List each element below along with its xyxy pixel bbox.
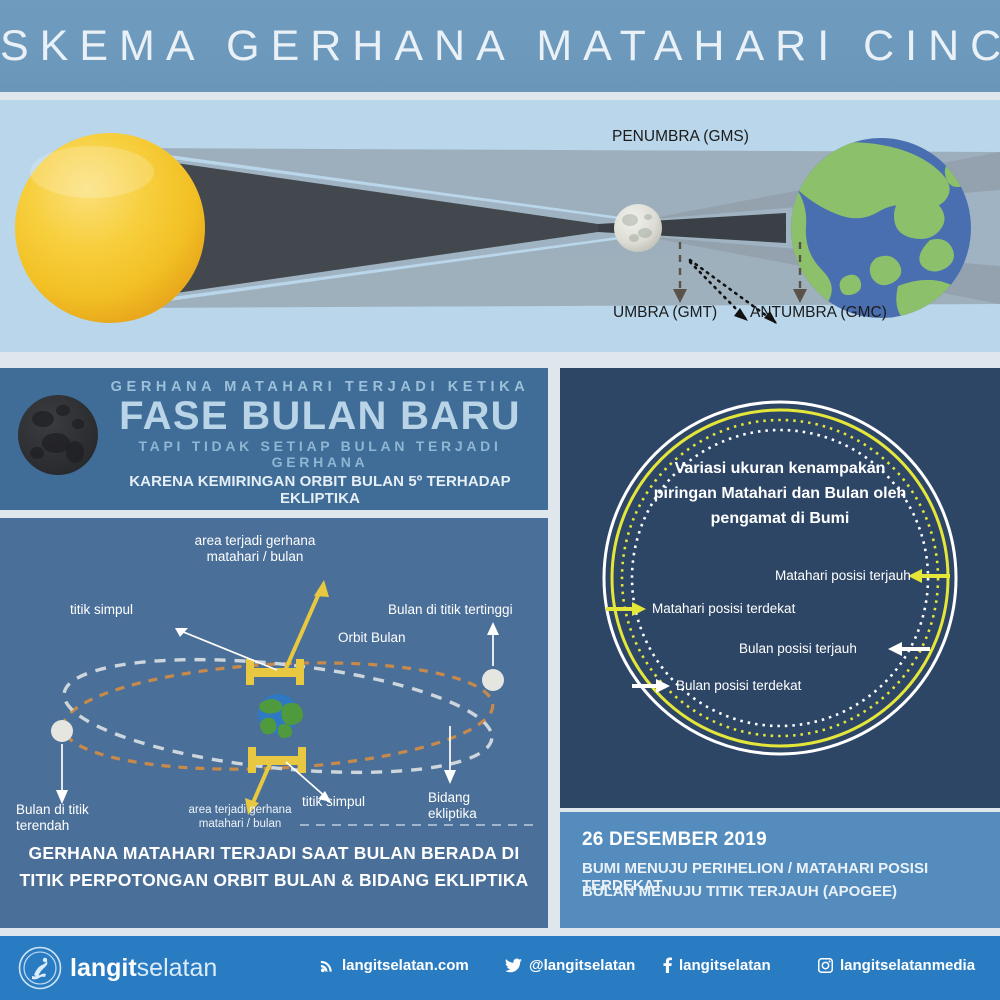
orbit-caption-line1: GERHANA MATAHARI TERJADI SAAT BULAN BERA… bbox=[0, 840, 548, 867]
infographic-page: SKEMA GERHANA MATAHARI CINCIN bbox=[0, 0, 1000, 1000]
new-moon-icon bbox=[18, 395, 98, 475]
label-sun-near: Matahari posisi terdekat bbox=[652, 601, 795, 616]
footer-band: langitselatan langitselatan.com @langits… bbox=[0, 936, 1000, 1000]
label-node-bottom: titik simpul bbox=[302, 794, 365, 810]
label-eclipse-area-bottom-line2: matahari / bulan bbox=[175, 817, 305, 831]
social-facebook-label: langitselatan bbox=[679, 957, 771, 974]
label-moon-lowest-line2: terendah bbox=[16, 818, 89, 834]
label-moon-near: Bulan posisi terdekat bbox=[676, 678, 801, 693]
new-moon-line-4: KARENA KEMIRINGAN ORBIT BULAN 5º TERHADA… bbox=[100, 473, 540, 507]
new-moon-text-block: GERHANA MATAHARI TERJADI KETIKA FASE BUL… bbox=[100, 374, 540, 507]
social-twitter-label: @langitselatan bbox=[529, 957, 635, 974]
rss-icon bbox=[320, 958, 335, 973]
label-umbra: UMBRA (GMT) bbox=[613, 304, 717, 322]
header-band: SKEMA GERHANA MATAHARI CINCIN bbox=[0, 0, 1000, 92]
label-eclipse-area-top: area terjadi gerhana matahari / bulan bbox=[170, 533, 340, 565]
moon-lowest-icon bbox=[51, 720, 73, 742]
earth-small-icon bbox=[258, 694, 303, 738]
facebook-icon bbox=[663, 957, 672, 973]
label-penumbra: PENUMBRA (GMS) bbox=[612, 128, 749, 146]
brand-bold: langit bbox=[70, 954, 137, 982]
eclipse-geometry-diagram: PENUMBRA (GMS) UMBRA (GMT) ANTUMBRA (GMC… bbox=[0, 100, 1000, 352]
new-moon-line-3: TAPI TIDAK SETIAP BULAN TERJADI GERHANA bbox=[100, 438, 540, 470]
social-instagram[interactable]: langitselatanmedia bbox=[818, 957, 975, 974]
brand-light: selatan bbox=[137, 954, 218, 982]
label-eclipse-area-top-line1: area terjadi gerhana bbox=[170, 533, 340, 549]
label-ecliptic-plane-line2: ekliptika bbox=[428, 806, 477, 822]
social-website[interactable]: langitselatan.com bbox=[320, 957, 469, 974]
social-website-label: langitselatan.com bbox=[342, 957, 469, 974]
social-instagram-label: langitselatanmedia bbox=[840, 957, 975, 974]
label-moon-far: Bulan posisi terjauh bbox=[739, 641, 857, 656]
label-ecliptic-plane-line1: Bidang bbox=[428, 790, 477, 806]
label-moon-orbit: Orbit Bulan bbox=[338, 630, 406, 646]
label-ecliptic-plane: Bidang ekliptika bbox=[428, 790, 477, 822]
apparent-size-title-line2: piringan Matahari dan Bulan oleh bbox=[615, 481, 945, 506]
langitselatan-logo-icon[interactable] bbox=[18, 946, 62, 990]
apparent-size-title-line3: pengamat di Bumi bbox=[615, 506, 945, 531]
label-sun-far: Matahari posisi terjauh bbox=[775, 568, 911, 583]
apparent-size-panel: Variasi ukuran kenampakan piringan Matah… bbox=[560, 368, 1000, 808]
page-title: SKEMA GERHANA MATAHARI CINCIN bbox=[0, 22, 1000, 71]
social-facebook[interactable]: langitselatan bbox=[663, 957, 771, 974]
label-moon-lowest: Bulan di titik terendah bbox=[16, 802, 89, 834]
apparent-size-title: Variasi ukuran kenampakan piringan Matah… bbox=[615, 456, 945, 531]
label-eclipse-area-bottom-line1: area terjadi gerhana bbox=[175, 803, 305, 817]
new-moon-line-1: GERHANA MATAHARI TERJADI KETIKA bbox=[100, 379, 540, 395]
label-moon-highest: Bulan di titik tertinggi bbox=[388, 602, 513, 618]
social-twitter[interactable]: @langitselatan bbox=[505, 957, 635, 974]
twitter-icon bbox=[505, 958, 522, 973]
apparent-size-title-line1: Variasi ukuran kenampakan bbox=[615, 456, 945, 481]
orbit-caption: GERHANA MATAHARI TERJADI SAAT BULAN BERA… bbox=[0, 840, 548, 894]
new-moon-headline: FASE BULAN BARU bbox=[100, 394, 540, 439]
label-eclipse-area-bottom: area terjadi gerhana matahari / bulan bbox=[175, 803, 305, 831]
label-antumbra: ANTUMBRA (GMC) bbox=[750, 304, 887, 322]
date-panel: 26 DESEMBER 2019 BUMI MENUJU PERIHELION … bbox=[560, 812, 1000, 928]
moon-orbit-panel: area terjadi gerhana matahari / bulan ti… bbox=[0, 518, 548, 928]
moon-highest-icon bbox=[482, 669, 504, 691]
moon-icon bbox=[614, 204, 662, 252]
orbit-caption-line2: TITIK PERPOTONGAN ORBIT BULAN & BIDANG E… bbox=[0, 867, 548, 894]
label-moon-lowest-line1: Bulan di titik bbox=[16, 802, 89, 818]
node-leader-arrow-top bbox=[176, 629, 277, 670]
label-eclipse-area-top-line2: matahari / bulan bbox=[170, 549, 340, 565]
label-node-top: titik simpul bbox=[70, 602, 133, 618]
apparent-size-svg bbox=[560, 368, 1000, 808]
eclipse-date: 26 DESEMBER 2019 bbox=[582, 829, 767, 851]
new-moon-band: GERHANA MATAHARI TERJADI KETIKA FASE BUL… bbox=[0, 368, 548, 510]
brand-wordmark: langitselatan bbox=[70, 954, 217, 983]
instagram-icon bbox=[818, 958, 833, 973]
date-note-line2: BULAN MENUJU TITIK TERJAUH (APOGEE) bbox=[582, 883, 897, 900]
